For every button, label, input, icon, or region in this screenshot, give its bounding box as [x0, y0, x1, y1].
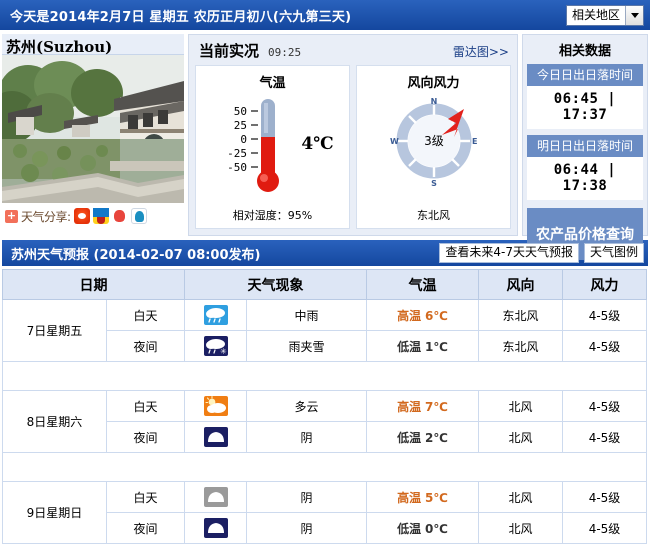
today-sun-label: 今日日出日落时间	[527, 64, 643, 86]
forecast-condition-0-day: 中雨	[247, 300, 367, 331]
forecast-windforce-1-day: 4-5级	[563, 391, 647, 422]
table-row: 9日星期日 白天 阴 高温 5℃ 北风 4-5级	[3, 482, 647, 513]
forecast-table-header: 日期 天气现象 气温 风向 风力	[3, 270, 647, 300]
forecast-temp-2-night: 低温 0℃	[367, 513, 479, 544]
sina-weibo-icon[interactable]	[74, 208, 90, 224]
observation-time: 09:25	[268, 46, 301, 59]
forecast-temp-0-night: 低温 1℃	[367, 331, 479, 362]
svg-text:-50: -50	[228, 161, 248, 174]
partly-cloudy-day-icon	[203, 395, 229, 417]
forecast-winddir-0-night: 东北风	[479, 331, 563, 362]
qzone-icon[interactable]	[112, 208, 128, 224]
svg-text:0: 0	[241, 133, 248, 146]
forecast-windforce-2-day: 4-5级	[563, 482, 647, 513]
low-temp-label: 低温	[397, 340, 421, 354]
related-data-title: 相关数据	[527, 38, 643, 64]
forecast-period-0-day: 白天	[107, 300, 185, 331]
forecast-condition-2-day: 阴	[247, 482, 367, 513]
forecast-winddir-2-night: 北风	[479, 513, 563, 544]
temperature-card-title: 气温	[259, 72, 285, 91]
douban-icon[interactable]	[131, 208, 147, 224]
region-select-arrow[interactable]	[625, 6, 643, 25]
high-temp-label: 高温	[397, 491, 421, 505]
suzhou-garden-image	[2, 55, 184, 203]
related-data-panel: 相关数据 今日日出日落时间 06:45 | 17:37 明日日出日落时间 06:…	[522, 34, 648, 236]
observation-header: 当前实况 09:25 雷达图>>	[189, 35, 517, 65]
row-separator	[3, 453, 647, 482]
overcast-night-icon	[203, 517, 229, 539]
forecast-winddir-2-day: 北风	[479, 482, 563, 513]
city-photo	[2, 55, 184, 203]
extended-forecast-button[interactable]: 查看未来4-7天天气预报	[439, 243, 579, 263]
svg-text:50: 50	[234, 105, 247, 118]
svg-text:N: N	[430, 97, 437, 106]
forecast-winddir-1-night: 北风	[479, 422, 563, 453]
column-header-weather: 天气现象	[185, 270, 367, 300]
thermometer-row: 50 25 0 -25 -50	[211, 93, 333, 195]
weather-icon-cell	[185, 300, 247, 331]
today-date-text: 今天是2014年2月7日 星期五 农历正月初八(六九第三天)	[10, 6, 351, 25]
low-temp-label: 低温	[397, 522, 421, 536]
table-row: 7日星期五 白天 中雨 高温	[3, 300, 647, 331]
forecast-buttons: 查看未来4-7天天气预报 天气图例	[439, 243, 644, 263]
wind-card: 风向风力	[356, 65, 511, 229]
svg-text:25: 25	[234, 119, 247, 132]
forecast-temp-1-night: 低温 2℃	[367, 422, 479, 453]
svg-text:-25: -25	[228, 147, 248, 160]
forecast-period-1-night: 夜间	[107, 422, 185, 453]
overcast-day-icon	[203, 486, 229, 508]
forecast-temp-1-day: 高温 7℃	[367, 391, 479, 422]
column-header-wind-force: 风力	[563, 270, 647, 300]
thermometer-icon: 50 25 0 -25 -50	[211, 93, 297, 195]
forecast-table: 日期 天气现象 气温 风向 风力 7日星期五 白天	[2, 269, 647, 544]
forecast-period-2-night: 夜间	[107, 513, 185, 544]
high-temp-value: 7℃	[425, 400, 448, 414]
forecast-period-2-day: 白天	[107, 482, 185, 513]
forecast-condition-1-night: 阴	[247, 422, 367, 453]
sleet-night-icon: ✳	[203, 335, 229, 357]
table-row: 8日星期六 白天 多云	[3, 391, 647, 422]
forecast-winddir-1-day: 北风	[479, 391, 563, 422]
svg-text:3级: 3级	[424, 134, 444, 148]
forecast-windforce-0-day: 4-5级	[563, 300, 647, 331]
forecast-temp-0-day: 高温 6℃	[367, 300, 479, 331]
low-temp-value: 0℃	[425, 522, 448, 536]
svg-text:W: W	[390, 137, 399, 146]
forecast-windforce-1-night: 4-5级	[563, 422, 647, 453]
relative-humidity: 相对湿度：95%	[233, 207, 312, 228]
forecast-condition-0-night: 雨夹雪	[247, 331, 367, 362]
weather-icon-cell: ✳	[185, 331, 247, 362]
overcast-night-icon	[203, 426, 229, 448]
forecast-winddir-0-day: 东北风	[479, 300, 563, 331]
compass-icon: N S W E 3级	[386, 93, 482, 189]
tomorrow-sun-value: 06:44 | 17:38	[527, 157, 643, 200]
forecast-temp-2-day: 高温 5℃	[367, 482, 479, 513]
weather-legend-button[interactable]: 天气图例	[584, 243, 644, 263]
tomorrow-sun-label: 明日日出日落时间	[527, 135, 643, 157]
forecast-condition-2-night: 阴	[247, 513, 367, 544]
column-header-wind-direction: 风向	[479, 270, 563, 300]
high-temp-value: 5℃	[425, 491, 448, 505]
svg-text:✳: ✳	[220, 347, 227, 356]
high-temp-label: 高温	[397, 309, 421, 323]
forecast-windforce-2-night: 4-5级	[563, 513, 647, 544]
forecast-date-0: 7日星期五	[3, 300, 107, 362]
weather-icon-cell	[185, 391, 247, 422]
column-header-temperature: 气温	[367, 270, 479, 300]
chevron-down-icon	[631, 13, 639, 18]
forecast-period-0-night: 夜间	[107, 331, 185, 362]
wind-direction-value: 东北风	[417, 207, 450, 228]
forecast-period-1-day: 白天	[107, 391, 185, 422]
share-label: 天气分享:	[21, 208, 71, 225]
forecast-header-bar: 苏州天气预报 (2014-02-07 08:00发布) 查看未来4-7天天气预报…	[2, 240, 648, 266]
current-temperature-value: 4℃	[301, 134, 333, 154]
svg-text:E: E	[472, 137, 477, 146]
share-plus-icon[interactable]: +	[5, 210, 18, 223]
weather-icon-cell	[185, 422, 247, 453]
low-temp-value: 1℃	[425, 340, 448, 354]
tencent-weibo-icon[interactable]	[93, 208, 109, 224]
weather-page: 今天是2014年2月7日 星期五 农历正月初八(六九第三天) 相关地区 苏州(S…	[0, 0, 650, 497]
column-header-date: 日期	[3, 270, 185, 300]
row-separator	[3, 362, 647, 391]
observation-title: 当前实况	[199, 40, 259, 61]
today-sun-value: 06:45 | 17:37	[527, 86, 643, 129]
high-temp-label: 高温	[397, 400, 421, 414]
low-temp-value: 2℃	[425, 431, 448, 445]
forecast-condition-1-day: 多云	[247, 391, 367, 422]
current-conditions-section: 苏州(Suzhou)	[0, 30, 650, 236]
top-date-bar: 今天是2014年2月7日 星期五 农历正月初八(六九第三天) 相关地区	[0, 0, 650, 30]
forecast-title: 苏州天气预报 (2014-02-07 08:00发布)	[11, 244, 260, 263]
forecast-date-1: 8日星期六	[3, 391, 107, 453]
forecast-date-2: 9日星期日	[3, 482, 107, 544]
low-temp-label: 低温	[397, 431, 421, 445]
wind-card-title: 风向风力	[407, 72, 459, 91]
svg-text:S: S	[431, 179, 437, 188]
radar-map-link[interactable]: 雷达图>>	[453, 43, 509, 60]
region-select[interactable]: 相关地区	[566, 5, 644, 26]
observation-body: 气温 50 25 0 -25 -50	[189, 65, 517, 235]
temperature-card: 气温 50 25 0 -25 -50	[195, 65, 350, 229]
forecast-windforce-0-night: 4-5级	[563, 331, 647, 362]
share-bar: + 天气分享:	[2, 203, 184, 229]
region-select-label: 相关地区	[567, 6, 625, 25]
city-column: 苏州(Suzhou)	[2, 34, 184, 236]
weather-icon-cell	[185, 513, 247, 544]
weather-icon-cell	[185, 482, 247, 513]
high-temp-value: 6℃	[425, 309, 448, 323]
city-title: 苏州(Suzhou)	[2, 34, 184, 55]
observation-panel: 当前实况 09:25 雷达图>> 气温 50 25 0 -25 -50	[188, 34, 518, 236]
rain-day-icon	[203, 304, 229, 326]
